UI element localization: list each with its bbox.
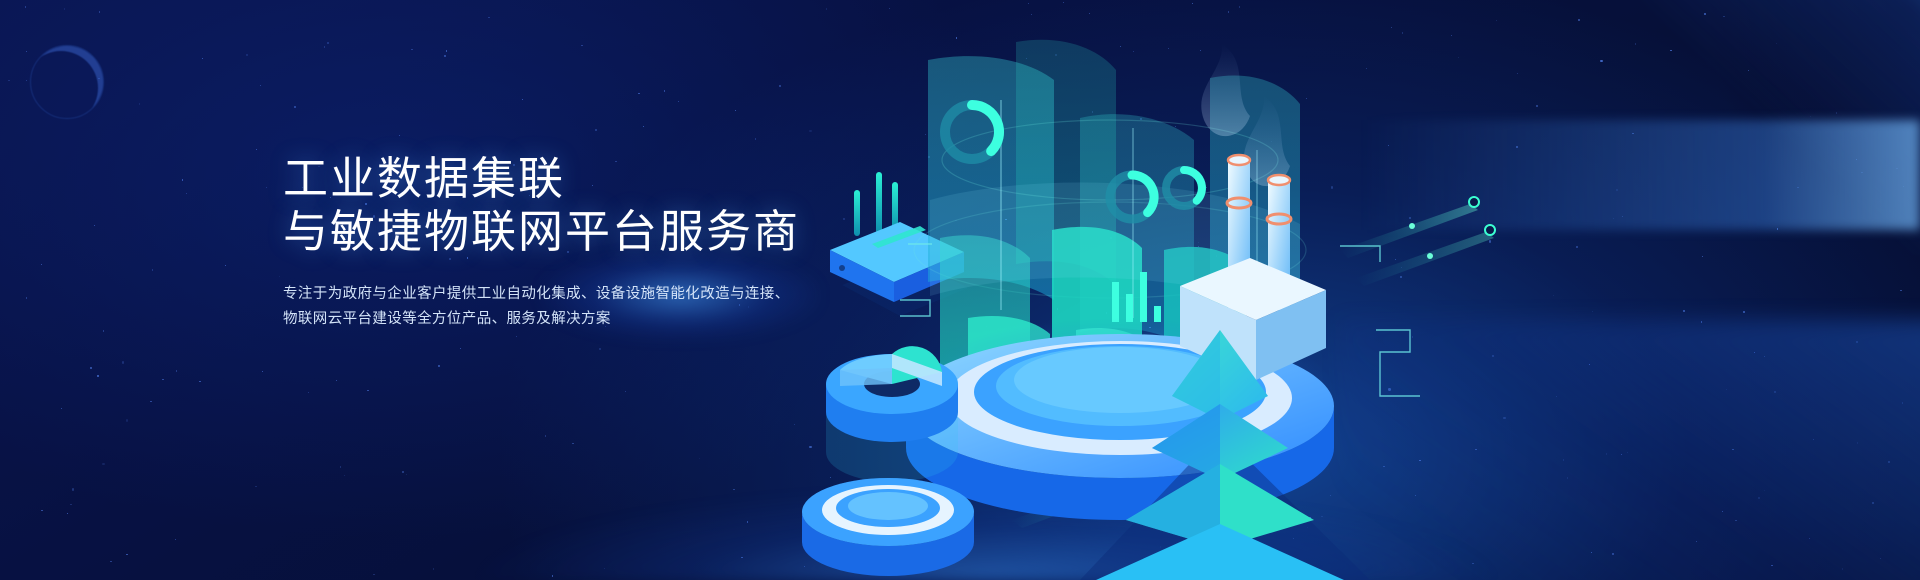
- subheadline: 专注于为政府与企业客户提供工业自动化集成、设备设施智能化改造与连接、 物联网云平…: [283, 282, 903, 332]
- pie-chart-cylinder-icon: [826, 346, 958, 482]
- crescent-moon-icon: [30, 45, 104, 119]
- hero-copy: 工业数据集联 与敏捷物联网平台服务商 专注于为政府与企业客户提供工业自动化集成、…: [283, 152, 903, 332]
- hero-banner: 工业数据集联 与敏捷物联网平台服务商 专注于为政府与企业客户提供工业自动化集成、…: [0, 0, 1920, 580]
- subheadline-line-1: 专注于为政府与企业客户提供工业自动化集成、设备设施智能化改造与连接、: [283, 282, 903, 307]
- subheadline-line-2: 物联网云平台建设等全方位产品、服务及解决方案: [283, 307, 903, 332]
- headline-line-2: 与敏捷物联网平台服务商: [283, 205, 903, 258]
- glow-pad-icon: [802, 478, 974, 576]
- hero-illustration: [780, 0, 1920, 580]
- headline-line-1: 工业数据集联: [283, 152, 903, 205]
